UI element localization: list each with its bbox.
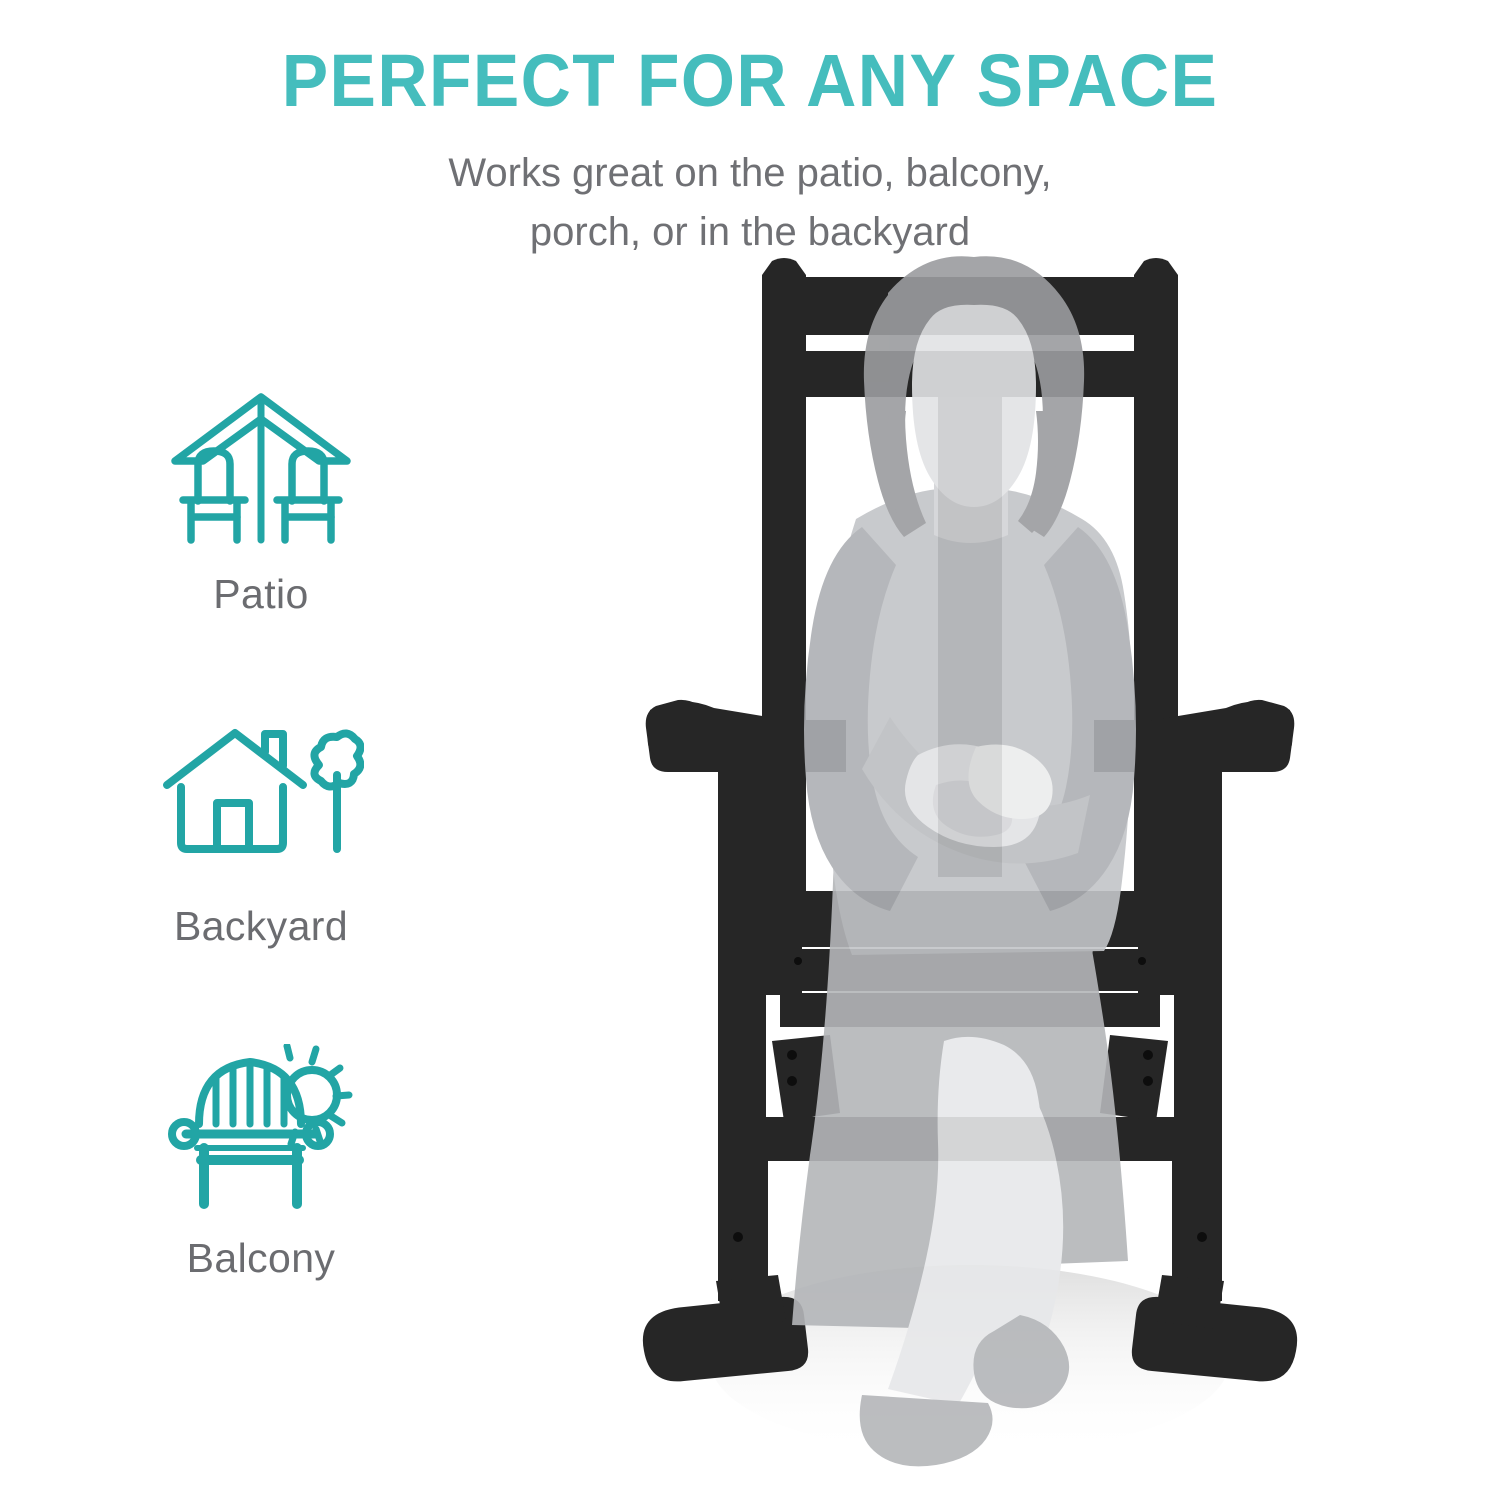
feature-label-balcony: Balcony (96, 1238, 426, 1279)
page-subtitle-line-2: porch, or in the backyard (0, 203, 1500, 262)
header: PERFECT FOR ANY SPACE Works great on the… (0, 0, 1500, 262)
feature-item-balcony: Balcony (96, 1039, 426, 1279)
page-title: PERFECT FOR ANY SPACE (45, 44, 1455, 118)
patio-umbrella-chairs-icon (96, 375, 426, 560)
silhouette-shoe-front (860, 1395, 993, 1466)
feature-item-backyard: Backyard (96, 707, 426, 947)
house-tree-icon (96, 707, 426, 892)
product-feature-graphic: PERFECT FOR ANY SPACE Works great on the… (0, 0, 1500, 1500)
silhouette-face (912, 305, 1036, 507)
feature-label-backyard: Backyard (96, 906, 426, 947)
product-image-rocking-chair-with-person (620, 255, 1320, 1500)
feature-list: Patio Backyard (96, 375, 426, 1279)
page-subtitle: Works great on the patio, balcony, porch… (0, 144, 1500, 262)
adirondack-chair-sun-icon (96, 1039, 426, 1224)
page-subtitle-line-1: Works great on the patio, balcony, (0, 144, 1500, 203)
feature-label-patio: Patio (96, 574, 426, 615)
feature-item-patio: Patio (96, 375, 426, 615)
